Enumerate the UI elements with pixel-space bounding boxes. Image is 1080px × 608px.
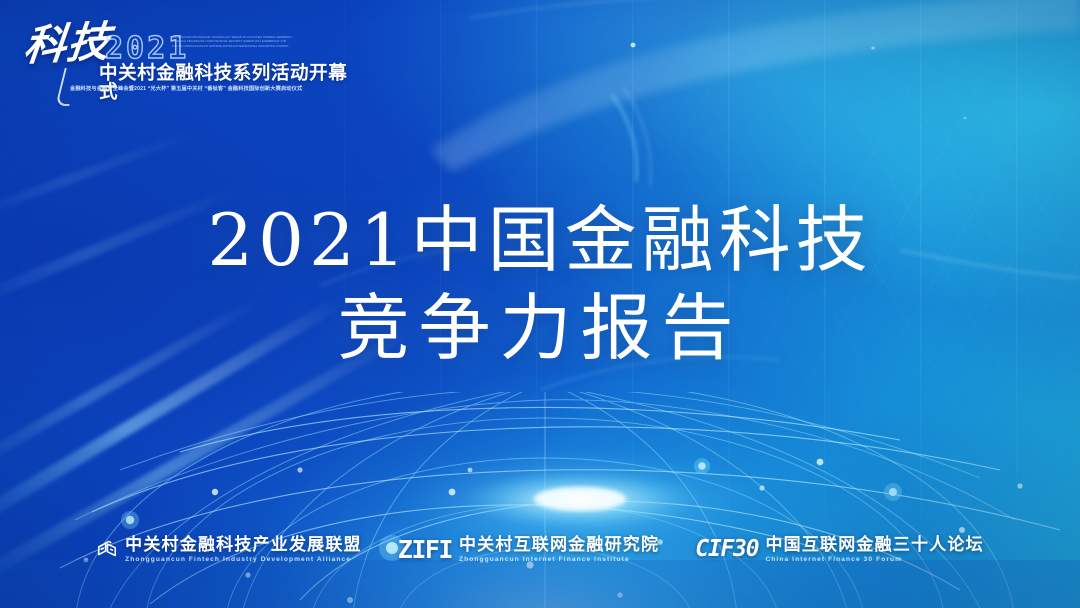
logo-china-internet-finance-30-forum: CIF30 中国互联网金融三十人论坛 China Internet Financ… xyxy=(695,535,984,564)
slide-title-line-2: 竞争力报告 xyxy=(0,284,1080,372)
logo-name-en: Zhongguancun Internet Finance Institute xyxy=(459,555,659,564)
zifi-wordmark-icon: ZIFI xyxy=(398,537,452,562)
cube-logo-icon xyxy=(96,539,118,561)
slide-title: 2021中国金融科技 竞争力报告 xyxy=(0,196,1080,372)
logo-text-block: 中国互联网金融三十人论坛 China Internet Finance 30 F… xyxy=(765,535,983,564)
logo-name-en: China Internet Finance 30 Forum xyxy=(765,555,983,564)
sponsor-logo-row: 中关村金融科技产业发展联盟 Zhongguancun Fintech Indus… xyxy=(0,535,1080,564)
logo-text-block: 中关村互联网金融研究院 Zhongguancun Internet Financ… xyxy=(459,535,659,564)
header-english-text: ZHONGGUANCUN FINANCIAL TECHNOLOGY SERIES… xyxy=(172,36,332,49)
logo-name-en: Zhongguancun Fintech Industry Developmen… xyxy=(125,555,362,564)
header-english-line-3: THE 5TH ZHONGGUANCUN FANTAIKE FINTECH IN… xyxy=(172,45,332,49)
logo-text-block: 中关村金融科技产业发展联盟 Zhongguancun Fintech Indus… xyxy=(125,535,362,564)
header-main-title: 中关村金融科技系列活动开幕式 xyxy=(99,63,352,101)
event-header-banner: 科技 2021 ZHONGGUANCUN FINANCIAL TECHNOLOG… xyxy=(0,0,352,106)
logo-name-cn: 中关村互联网金融研究院 xyxy=(459,535,659,554)
logo-name-cn: 中关村金融科技产业发展联盟 xyxy=(125,535,362,554)
slide-title-line-1: 2021中国金融科技 xyxy=(0,196,1080,284)
header-subtitle: 金融科技与金融安全峰会暨2021 “光大杯” 第五届中关村 “番钛客” 金融科技… xyxy=(70,86,302,93)
logo-name-cn: 中国互联网金融三十人论坛 xyxy=(765,535,983,554)
presentation-slide: 科技 2021 ZHONGGUANCUN FINANCIAL TECHNOLOG… xyxy=(0,0,1080,608)
cif30-wordmark-icon: CIF30 xyxy=(695,538,758,561)
logo-zhongguancun-internet-finance-institute: ZIFI 中关村互联网金融研究院 Zhongguancun Internet F… xyxy=(398,535,659,564)
logo-zhongguancun-fintech-alliance: 中关村金融科技产业发展联盟 Zhongguancun Fintech Indus… xyxy=(96,535,362,564)
